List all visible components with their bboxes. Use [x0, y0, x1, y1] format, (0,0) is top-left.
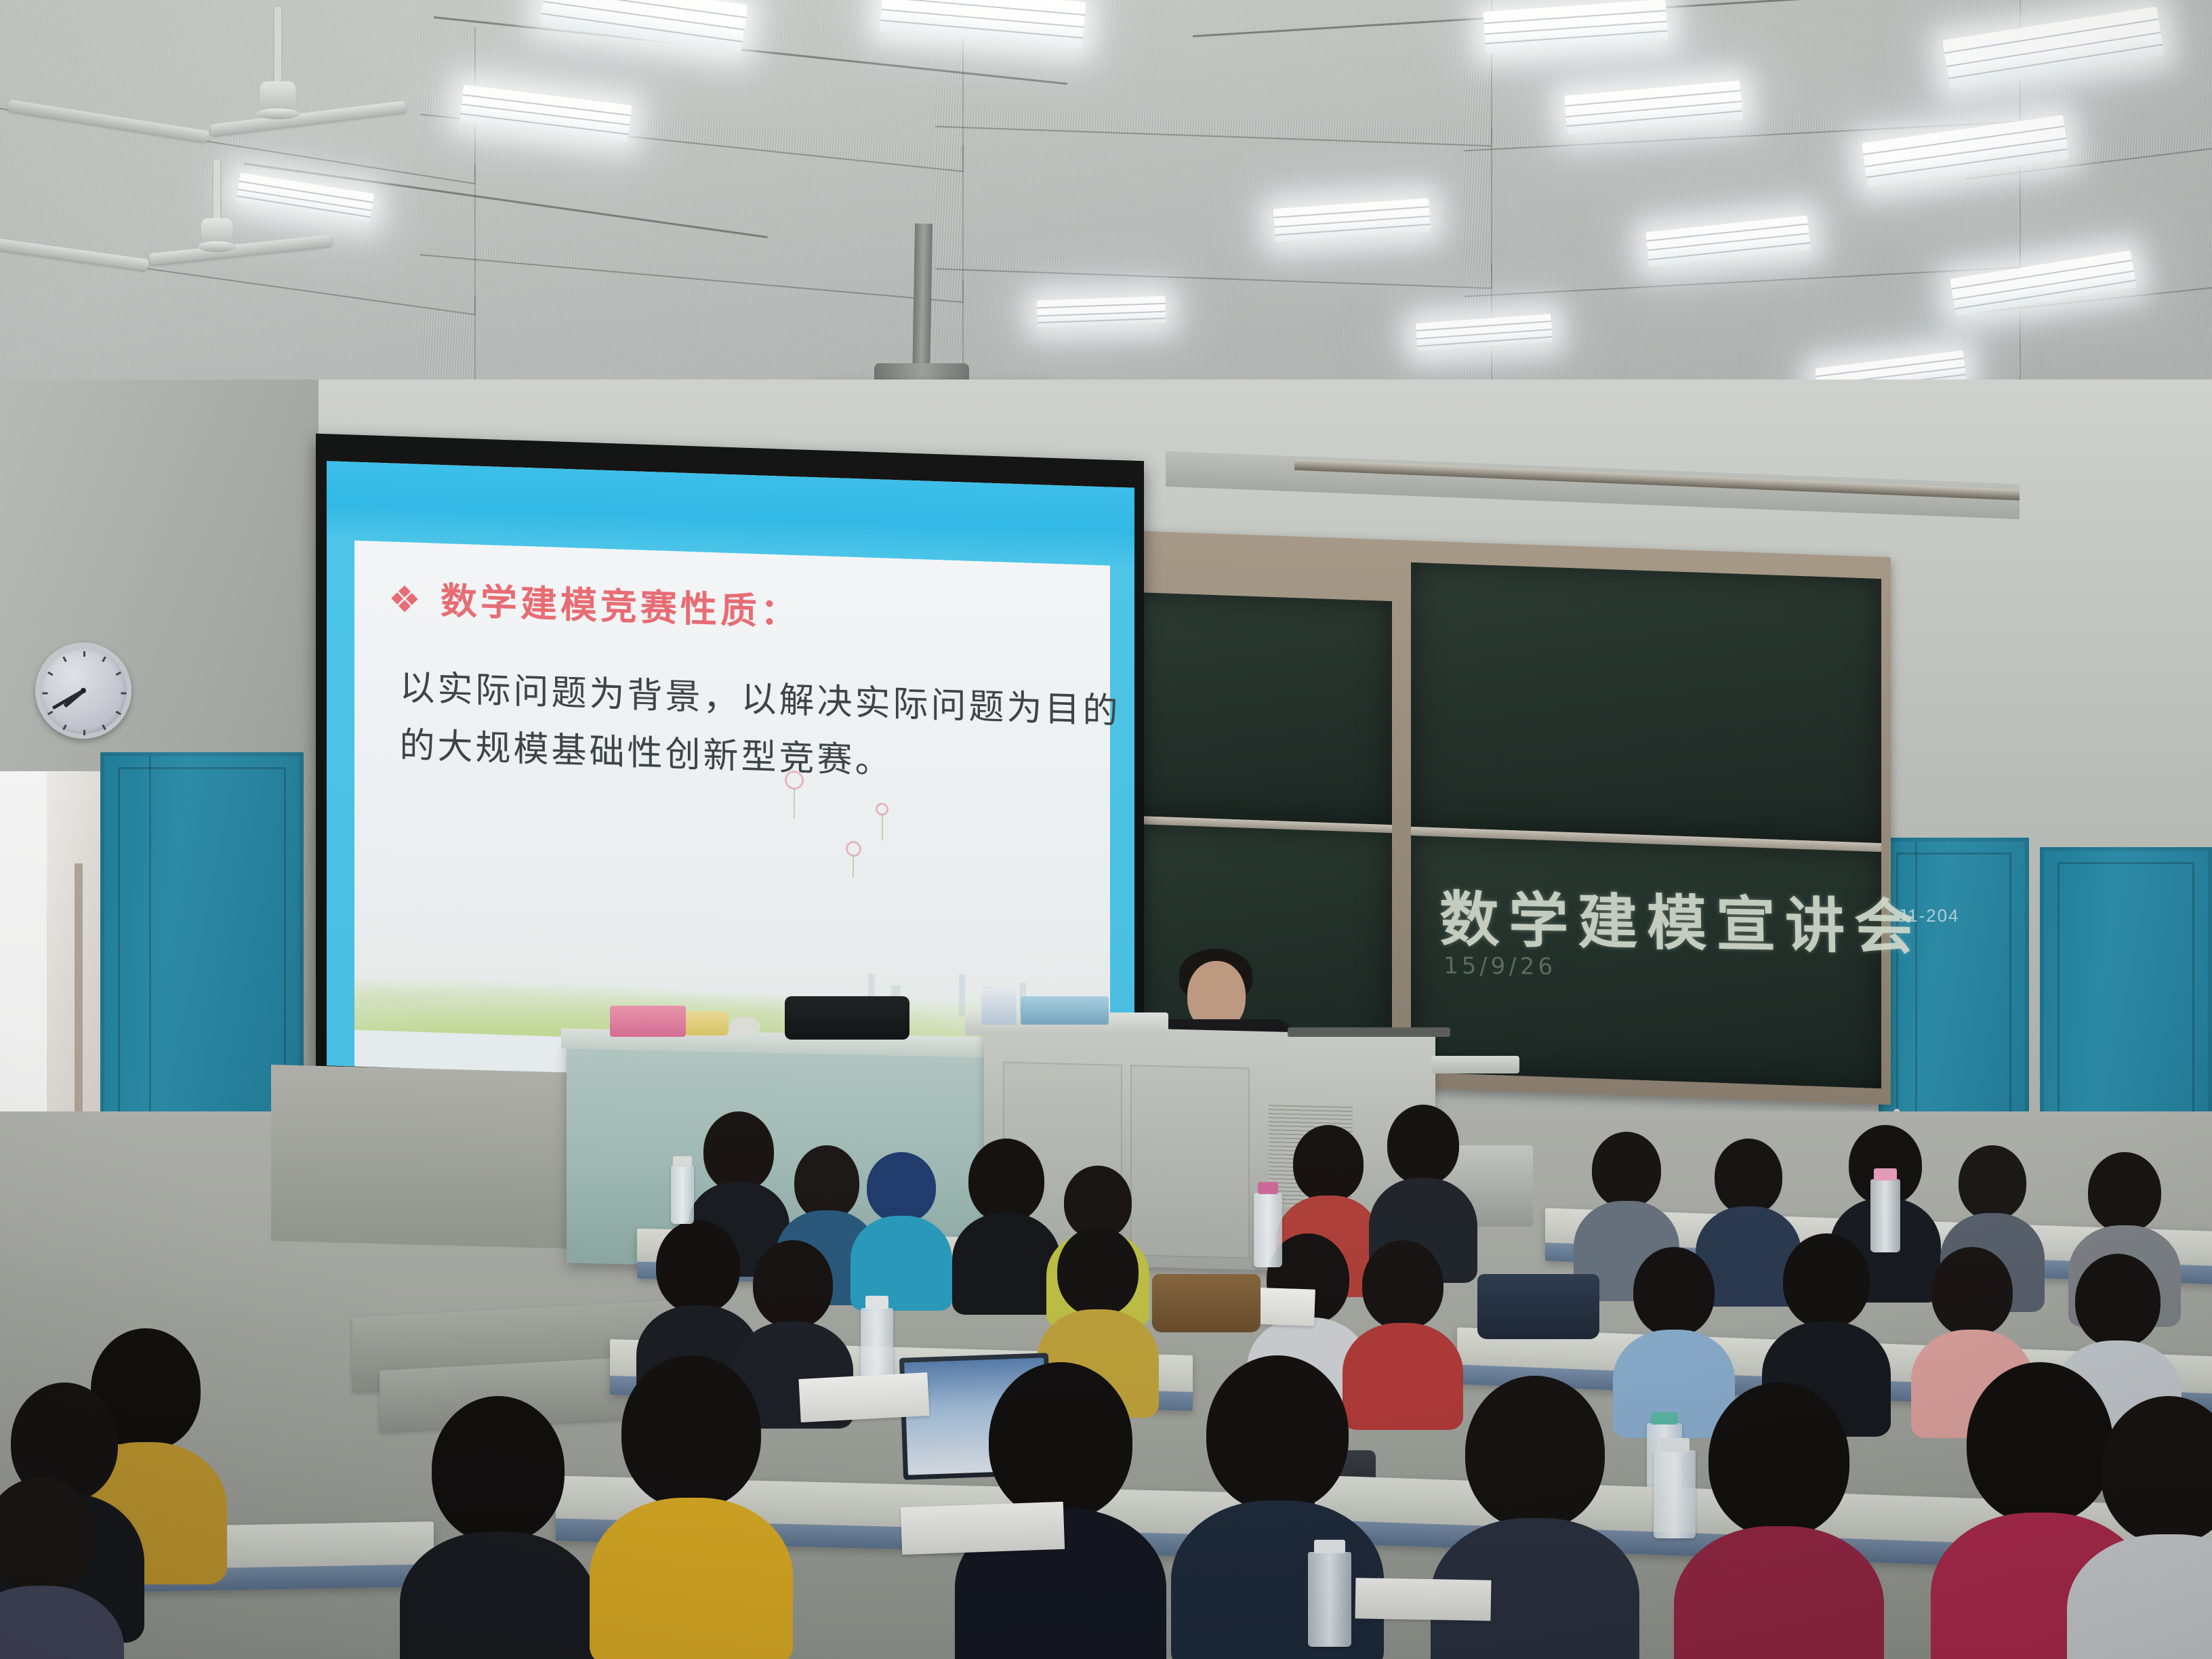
blue-box-item: [1021, 996, 1109, 1025]
backpack: [1152, 1274, 1261, 1332]
student: [962, 1139, 1050, 1294]
notebook: [1355, 1578, 1491, 1620]
student: [0, 1477, 108, 1659]
blackboard-chalk-title: 数学建模宣讲会: [1439, 872, 1924, 966]
ceiling-lamp: [1036, 296, 1166, 328]
black-bag-item: [785, 996, 909, 1040]
blackboard-panel-upper-right: [1411, 562, 1881, 843]
student-with-cap: [861, 1152, 942, 1294]
chalk-tray-item: [1431, 1056, 1519, 1073]
white-item: [729, 1017, 760, 1037]
ceiling-fan: [81, 160, 352, 363]
student: [2087, 1396, 2212, 1659]
clock-minute-hand: [52, 689, 85, 710]
slide-flower-icon: [876, 802, 888, 816]
student: [1382, 1105, 1464, 1261]
thermos-cup: [1870, 1179, 1900, 1252]
blackboard-panel-upper-left: [1114, 592, 1392, 825]
notebook: [901, 1502, 1065, 1555]
slide-content-area: ❖ 数学建模竞赛性质： 以实际问题为背景，以解决实际问题为目的 的大规模基础性创…: [354, 541, 1111, 1056]
student: [420, 1396, 576, 1659]
pointer-stick: [1288, 1027, 1450, 1037]
thermos-cup: [671, 1166, 694, 1224]
slide-heading: ❖ 数学建模竞赛性质：: [388, 569, 800, 636]
student: [1694, 1382, 1864, 1659]
lecture-hall-photo: J1-204 数学建模宣讲会 15/9/26 ❖ 数学建模竞赛性质： 以: [0, 0, 2212, 1659]
water-bottle: [1308, 1552, 1351, 1647]
projection-screen-frame: ❖ 数学建模竞赛性质： 以实际问题为背景，以解决实际问题为目的 的大规模基础性创…: [316, 434, 1144, 1099]
notebook: [798, 1372, 929, 1422]
blackboard-chalk-date: 15/9/26: [1443, 952, 1557, 980]
slide-body: 以实际问题为背景，以解决实际问题为目的 的大规模基础性创新型竞赛。: [399, 659, 1080, 796]
yellow-item: [686, 1011, 728, 1036]
slide-flower-icon: [846, 841, 861, 857]
tissue-box: [981, 988, 1017, 1025]
student-yellow-jacket: [610, 1355, 773, 1640]
water-bottle: [1254, 1193, 1282, 1267]
backpack: [1477, 1274, 1599, 1339]
projector-mount: [912, 224, 933, 385]
wall-clock: [35, 642, 131, 739]
water-bottle: [1654, 1450, 1696, 1538]
pink-bag-item: [610, 1006, 686, 1037]
student: [1355, 1240, 1450, 1410]
